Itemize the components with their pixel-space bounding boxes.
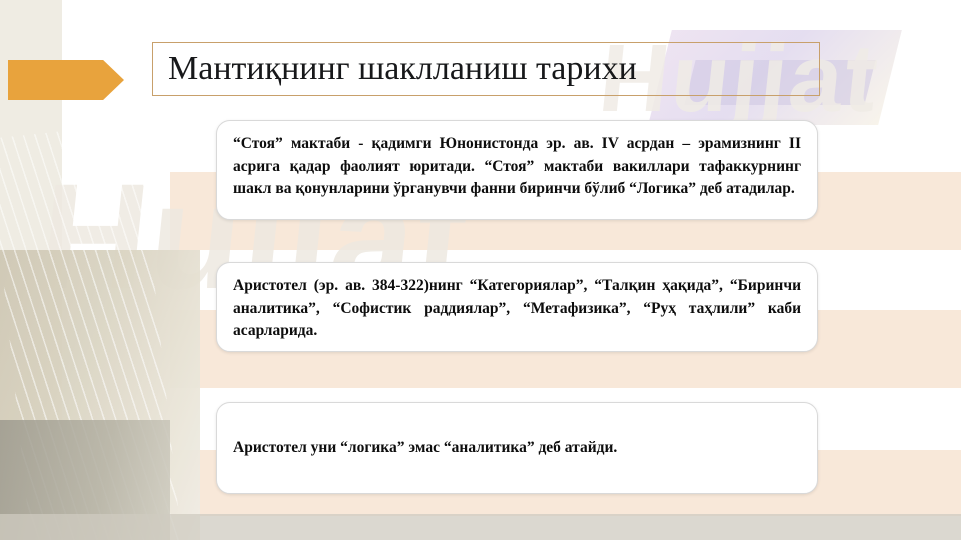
content-card-3-text: Аристотел уни “логика” эмас “аналитика” … — [233, 437, 801, 460]
bottom-bar — [0, 514, 961, 540]
page-title: Мантиқнинг шаклланиш тарихи — [168, 46, 808, 92]
content-card-1: “Стоя” мактаби - қадимги Юнонистонда эр.… — [216, 120, 818, 220]
content-card-2-text: Аристотел (эр. ав. 384-322)нинг “Категор… — [233, 277, 801, 339]
arrow-accent-icon — [8, 60, 124, 100]
slide: Hujjat Hujjat Мантиқнинг шаклланиш тарих… — [0, 0, 961, 540]
content-card-2: Аристотел (эр. ав. 384-322)нинг “Категор… — [216, 262, 818, 352]
content-card-1-text: “Стоя” мактаби - қадимги Юнонистонда эр.… — [233, 135, 801, 197]
content-card-3: Аристотел уни “логика” эмас “аналитика” … — [216, 402, 818, 494]
